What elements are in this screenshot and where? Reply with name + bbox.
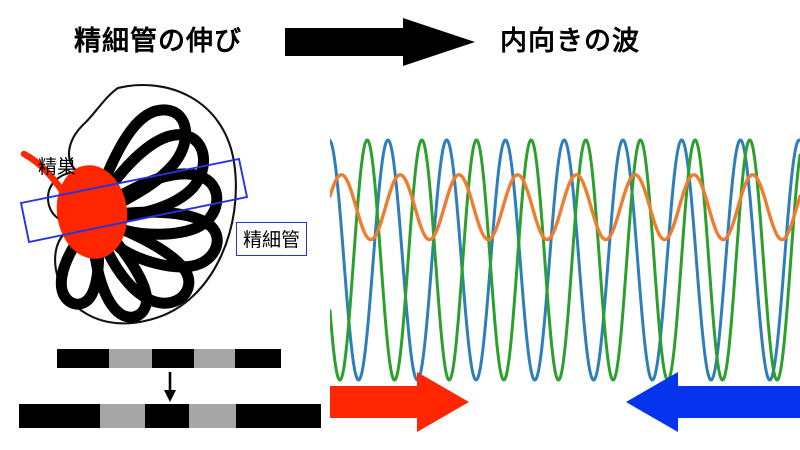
bar-segment	[19, 404, 100, 428]
bar-segment	[235, 349, 281, 368]
black-right-arrow-icon	[285, 18, 475, 66]
converging-arrows	[330, 372, 800, 432]
bar-segment	[145, 404, 189, 428]
bar-segment	[109, 349, 152, 368]
red-right-arrow-icon	[330, 372, 469, 432]
bar-segment	[194, 349, 235, 368]
bar-after	[19, 404, 321, 428]
bar-segment	[100, 404, 145, 428]
testis-diagram: 精巣	[0, 70, 340, 340]
bar-segment	[57, 349, 109, 368]
bar-segment	[152, 349, 194, 368]
wave-plot	[330, 110, 800, 410]
elongation-schematic	[0, 340, 340, 450]
bar-segment	[189, 404, 236, 428]
diagram-canvas: 精細管の伸び 内向きの波	[0, 0, 800, 450]
blue-left-arrow-icon	[626, 372, 800, 432]
page-title-right: 内向きの波	[500, 19, 640, 58]
bar-segment	[236, 404, 321, 428]
bar-before	[57, 349, 281, 368]
down-arrow-icon	[161, 372, 179, 402]
label-testis: 精巣	[38, 152, 76, 179]
label-seminiferous-tubule: 精細管	[236, 222, 307, 256]
page-title-left: 精細管の伸び	[74, 19, 242, 58]
